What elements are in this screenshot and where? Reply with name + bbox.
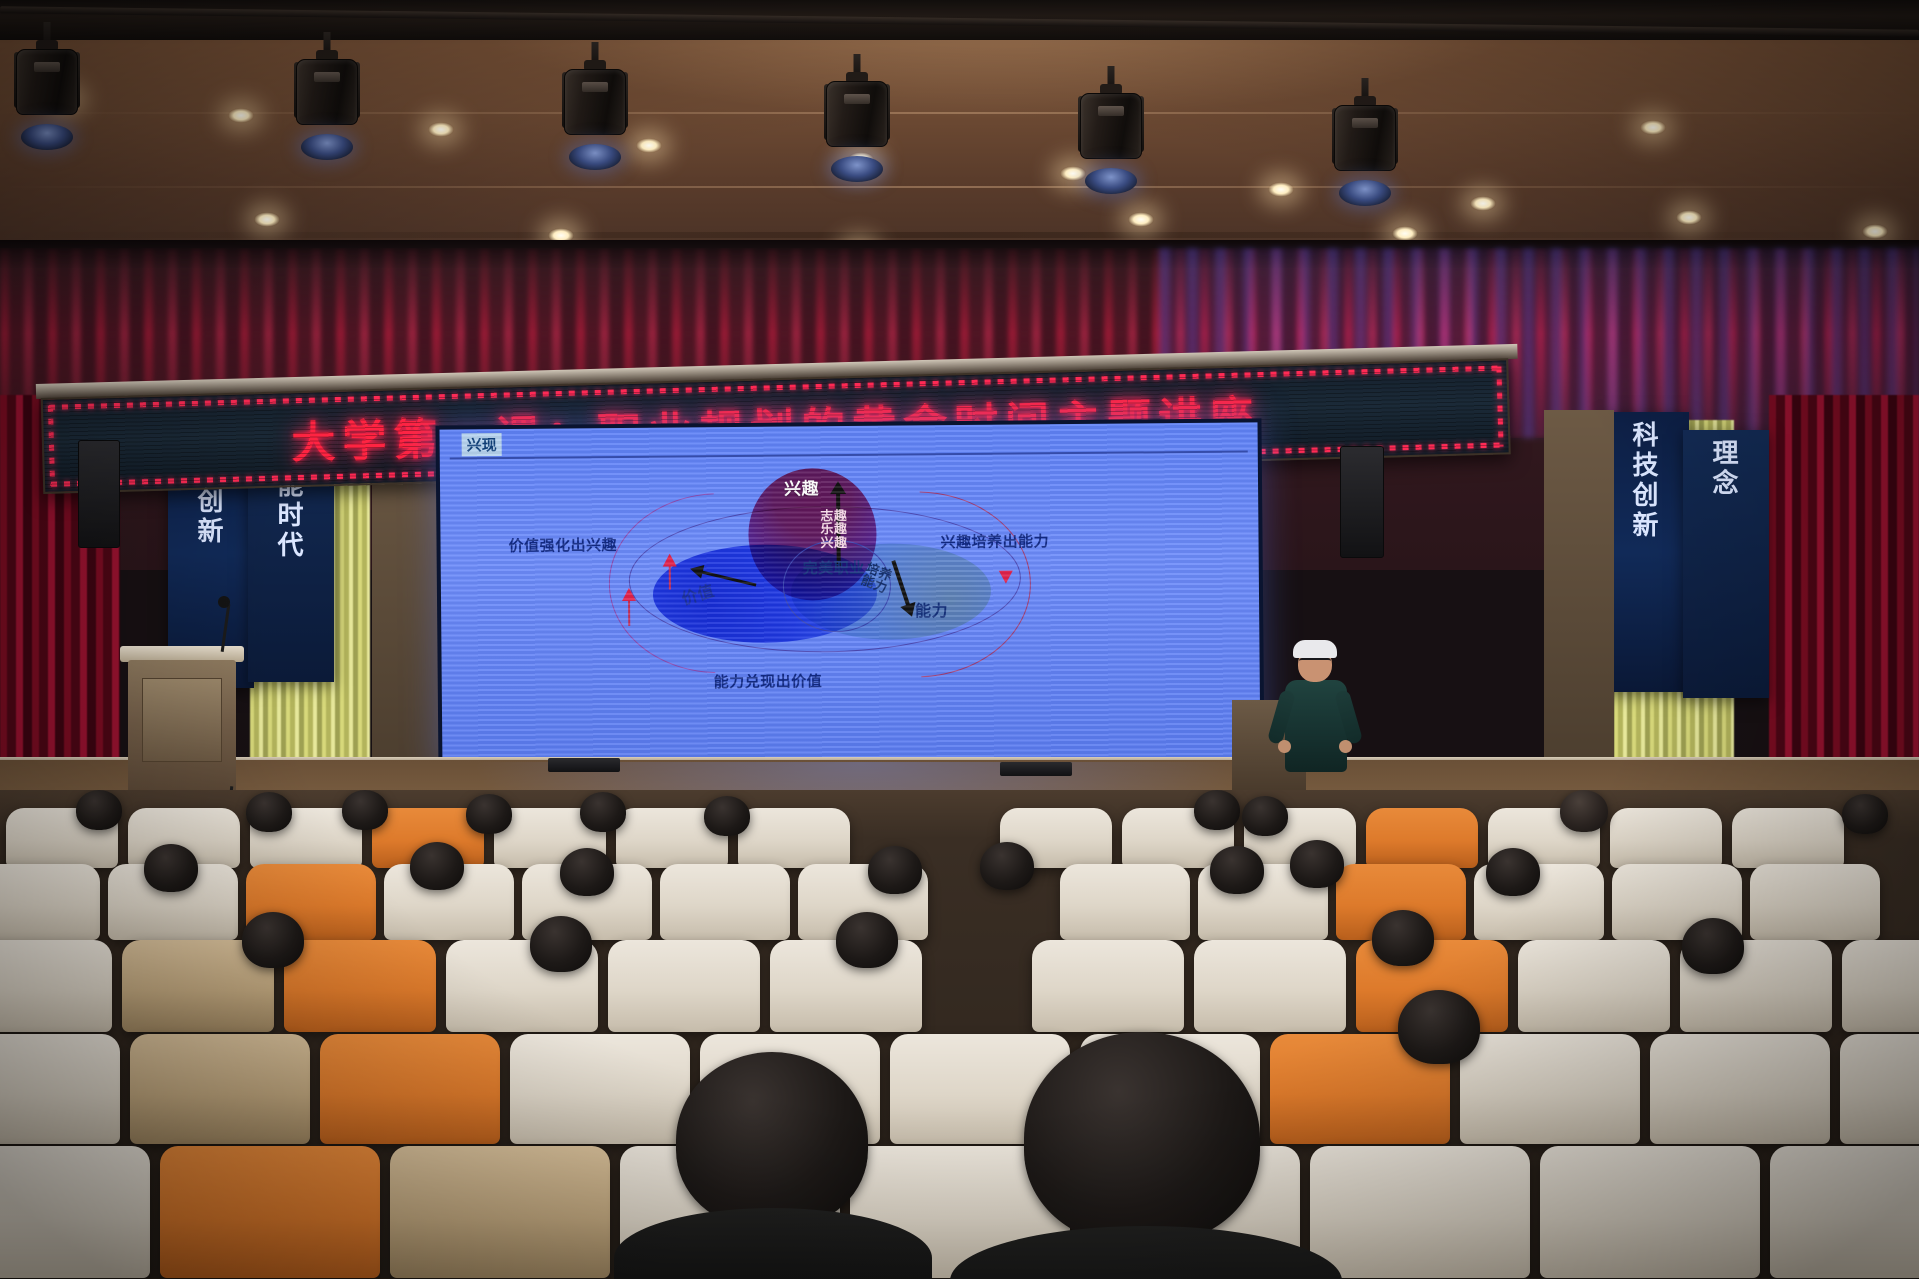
audience-head (580, 792, 626, 832)
audience-head (242, 912, 304, 968)
downlight-icon (636, 138, 662, 153)
banner-char: 念 (1683, 470, 1769, 500)
downlight-icon (254, 212, 280, 227)
seat (1610, 808, 1722, 868)
seat (0, 864, 100, 940)
venn-label-interest: 兴趣 (784, 474, 819, 499)
downlight-icon (1862, 224, 1888, 239)
red-arrow-up-icon (622, 588, 636, 601)
seat (160, 1146, 380, 1278)
banner-char: 创 (1603, 482, 1689, 512)
audience-head-foreground (676, 1052, 868, 1228)
audience-head (1290, 840, 1344, 888)
seat (1518, 940, 1670, 1032)
downlight-icon (1268, 182, 1294, 197)
seat (1366, 808, 1478, 868)
banner-char: 创 (168, 488, 254, 518)
stage-light-fixture (1326, 78, 1404, 198)
seat (510, 1034, 690, 1144)
seat (1460, 1034, 1640, 1144)
cap-icon (1293, 640, 1337, 658)
downlight-icon (1676, 210, 1702, 225)
wall-panel-right (1544, 410, 1614, 780)
seat (660, 864, 790, 940)
seat (608, 940, 760, 1032)
audience-head (1486, 848, 1540, 896)
seat (738, 808, 850, 868)
banner-char: 代 (248, 532, 334, 562)
banner-char: 科 (1603, 422, 1689, 452)
hanging-banner-4: 理 念 (1683, 430, 1769, 698)
audience-head (1682, 918, 1744, 974)
red-arrow-stem (669, 566, 671, 590)
banner-char: 技 (1603, 452, 1689, 482)
banner-char: 新 (1603, 512, 1689, 542)
audience-head (466, 794, 512, 834)
projection-screen: 兴现 兴趣 能力 价值 (435, 418, 1264, 773)
venn-label-ability: 能力 (915, 597, 948, 621)
presenter (1272, 640, 1358, 780)
audience-head (246, 792, 292, 832)
audience-head (560, 848, 614, 896)
seat (284, 940, 436, 1032)
seat (1840, 1034, 1919, 1144)
seat (1540, 1146, 1760, 1278)
seat (1842, 940, 1919, 1032)
audience-head (1242, 796, 1288, 836)
stage-light-fixture (288, 32, 366, 152)
downlight-icon (1640, 120, 1666, 135)
audience-head (1372, 910, 1434, 966)
podium (128, 646, 236, 794)
stage-monitor (548, 758, 620, 772)
red-arrow-up-icon (663, 554, 677, 567)
venn-edge-label-left: 价值强化出兴趣 (508, 534, 617, 556)
audience-head (144, 844, 198, 892)
stage-light-fixture (818, 54, 896, 174)
banner-char: 理 (1683, 440, 1769, 470)
downlight-icon (228, 108, 254, 123)
banner-char: 时 (248, 502, 334, 532)
slide-surface: 兴现 兴趣 能力 价值 (440, 422, 1261, 769)
stage-speaker (78, 440, 120, 548)
audience-head (530, 916, 592, 972)
audience-head-foreground (1024, 1032, 1260, 1244)
auditorium-photo: 科 技 创 新 智 能 时 代 科 技 创 新 理 念 大学第一课：职业规划的黄… (0, 0, 1919, 1279)
seat (1750, 864, 1880, 940)
seat (1310, 1146, 1530, 1278)
downlight-icon (1128, 212, 1154, 227)
venn-center-label: 完美职业 (803, 560, 865, 577)
audience-head (1560, 790, 1608, 832)
seat (1060, 864, 1190, 940)
downlight-icon (1470, 196, 1496, 211)
venn-diagram: 兴趣 能力 价值 完美职业 志趣 乐趣 兴趣 培养 能力 价值强化出兴趣 兴趣培… (490, 445, 1221, 763)
seat (1732, 808, 1844, 868)
venn-inner-note-interest: 志趣 乐趣 兴趣 (820, 510, 847, 550)
audience-head (342, 790, 388, 830)
audience-head (76, 790, 122, 830)
red-arrow-down-icon (999, 571, 1013, 584)
stage-monitor (1000, 762, 1072, 776)
seat (1194, 940, 1346, 1032)
seat (0, 1146, 150, 1278)
seat (1650, 1034, 1830, 1144)
banner-char: 新 (168, 518, 254, 548)
seat (130, 1034, 310, 1144)
red-arrow-stem (628, 600, 630, 626)
audience-seating (0, 790, 1919, 1279)
seat (320, 1034, 500, 1144)
audience-head (1194, 790, 1240, 830)
audience-head (836, 912, 898, 968)
audience-head (1398, 990, 1480, 1064)
seat (1770, 1146, 1919, 1278)
stage-speaker (1340, 446, 1384, 558)
seat (390, 1146, 610, 1278)
microphone-icon (218, 596, 230, 608)
seat (1032, 940, 1184, 1032)
audience-head (704, 796, 750, 836)
venn-edge-label-right: 兴趣培养出能力 (940, 530, 1049, 552)
stage-light-fixture (1072, 66, 1150, 186)
venn-edge-label-bottom: 能力兑现出价值 (714, 670, 823, 692)
audience-head (1842, 794, 1888, 834)
seat (0, 1034, 120, 1144)
glasses-icon (1299, 658, 1331, 665)
audience-head (980, 842, 1034, 890)
seat (0, 940, 112, 1032)
stage-light-fixture (8, 22, 86, 142)
stage-curtain-right (1769, 395, 1919, 805)
audience-head (868, 846, 922, 894)
downlight-icon (428, 122, 454, 137)
stage-light-fixture (556, 42, 634, 162)
audience-head (1210, 846, 1264, 894)
downlight-icon (1392, 226, 1418, 241)
hanging-banner-3: 科 技 创 新 (1603, 412, 1689, 692)
audience-head (410, 842, 464, 890)
